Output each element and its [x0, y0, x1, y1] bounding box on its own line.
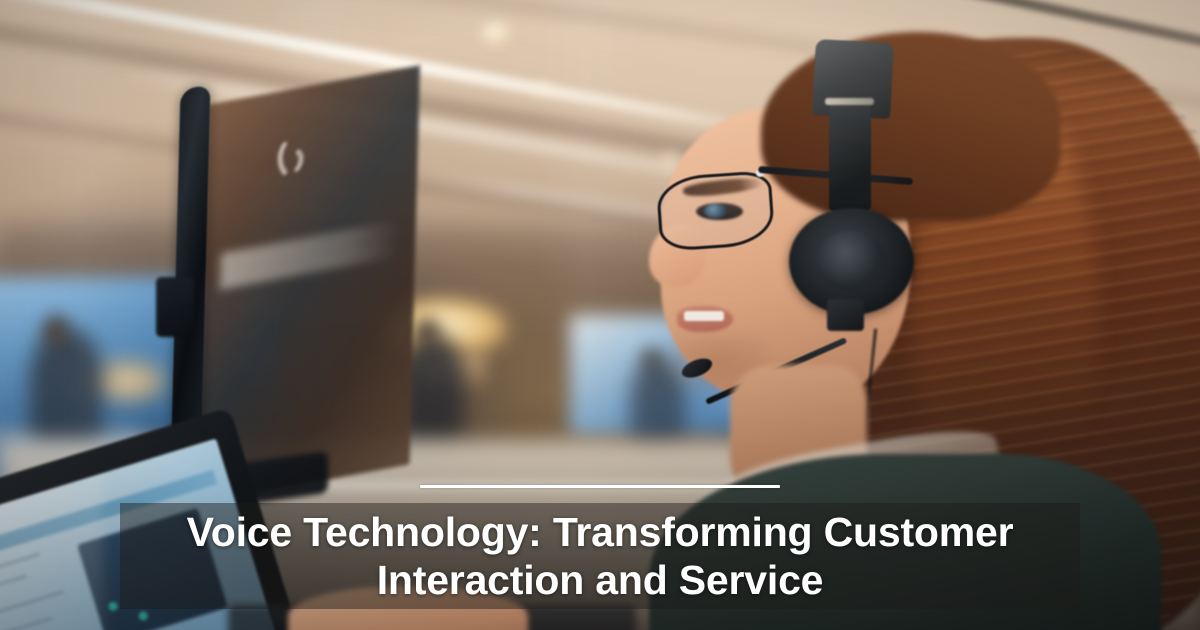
page-title: Voice Technology: Transforming Customer … [120, 508, 1080, 604]
monitor-reflection-glyph [273, 131, 326, 189]
teeth [684, 311, 724, 322]
monitor-stand [156, 277, 194, 337]
headset-adjuster [829, 104, 871, 211]
title-overlay-band: Voice Technology: Transforming Customer … [120, 503, 1080, 609]
hero-banner: Voice Technology: Transforming Customer … [0, 0, 1200, 630]
headset-boom-joint [827, 299, 864, 331]
eyeglass-lens [656, 170, 776, 252]
title-divider [420, 485, 780, 488]
